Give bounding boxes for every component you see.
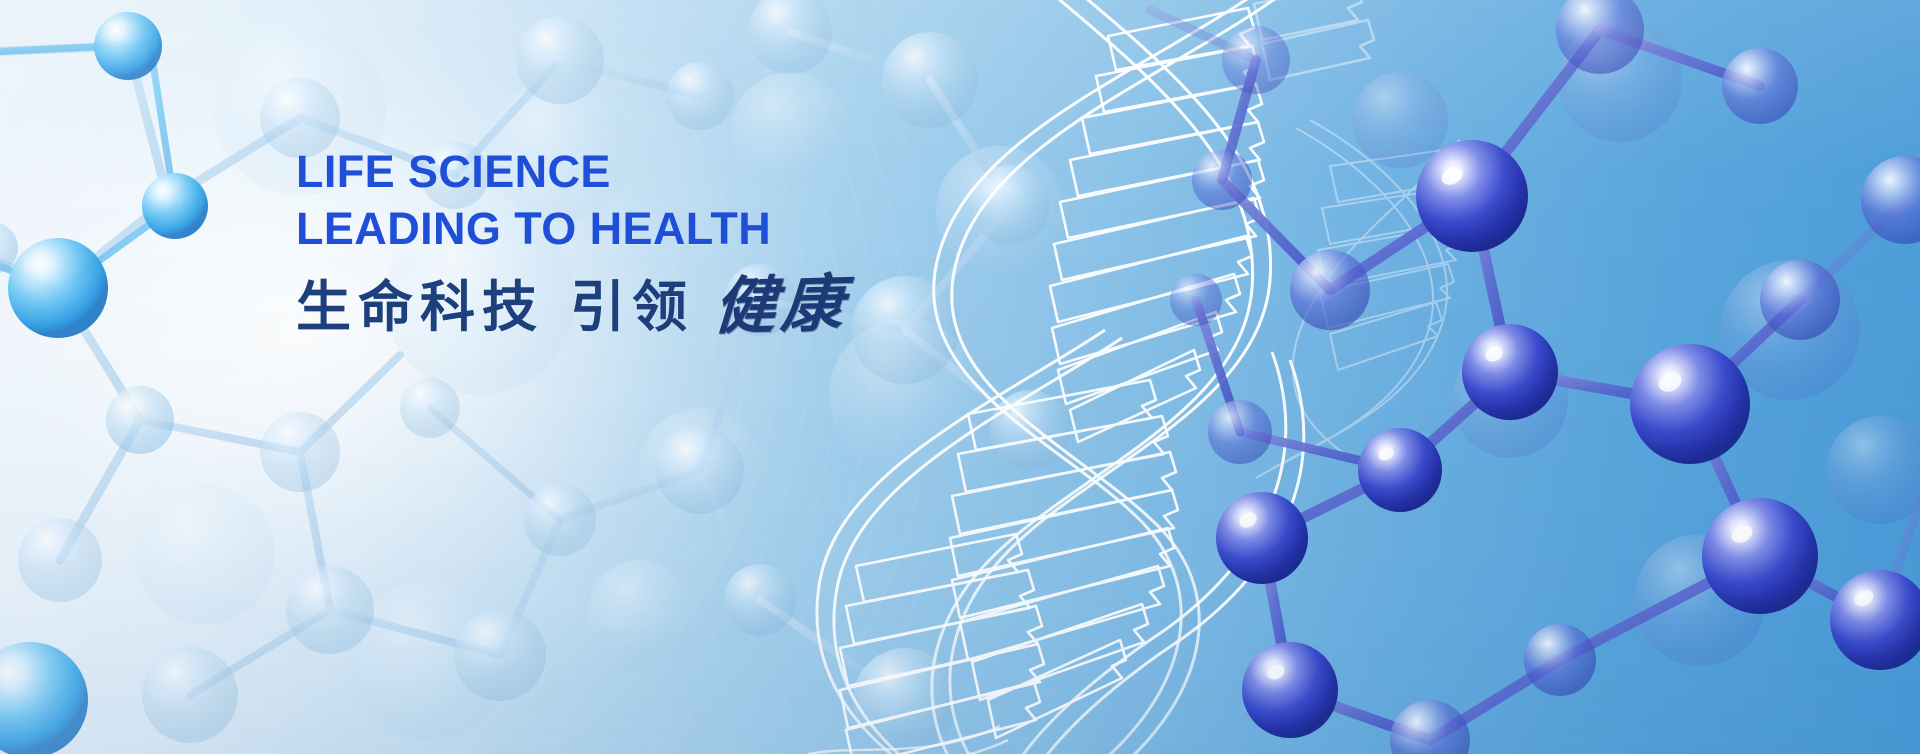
headline-block: LIFE SCIENCE LEADING TO HEALTH 生命科技 引领 健…	[296, 143, 1056, 338]
background-vignette	[0, 0, 1920, 754]
chinese-subheadline-row: 生命科技 引领 健康	[296, 276, 1056, 338]
chinese-subheadline-brush: 健康	[712, 273, 850, 338]
chinese-subheadline-main: 生命科技 引领	[296, 276, 694, 338]
life-science-banner: LIFE SCIENCE LEADING TO HEALTH 生命科技 引领 健…	[0, 0, 1920, 754]
headline-line-2: LEADING TO HEALTH	[296, 200, 1056, 257]
headline-line-1: LIFE SCIENCE	[296, 143, 1056, 200]
